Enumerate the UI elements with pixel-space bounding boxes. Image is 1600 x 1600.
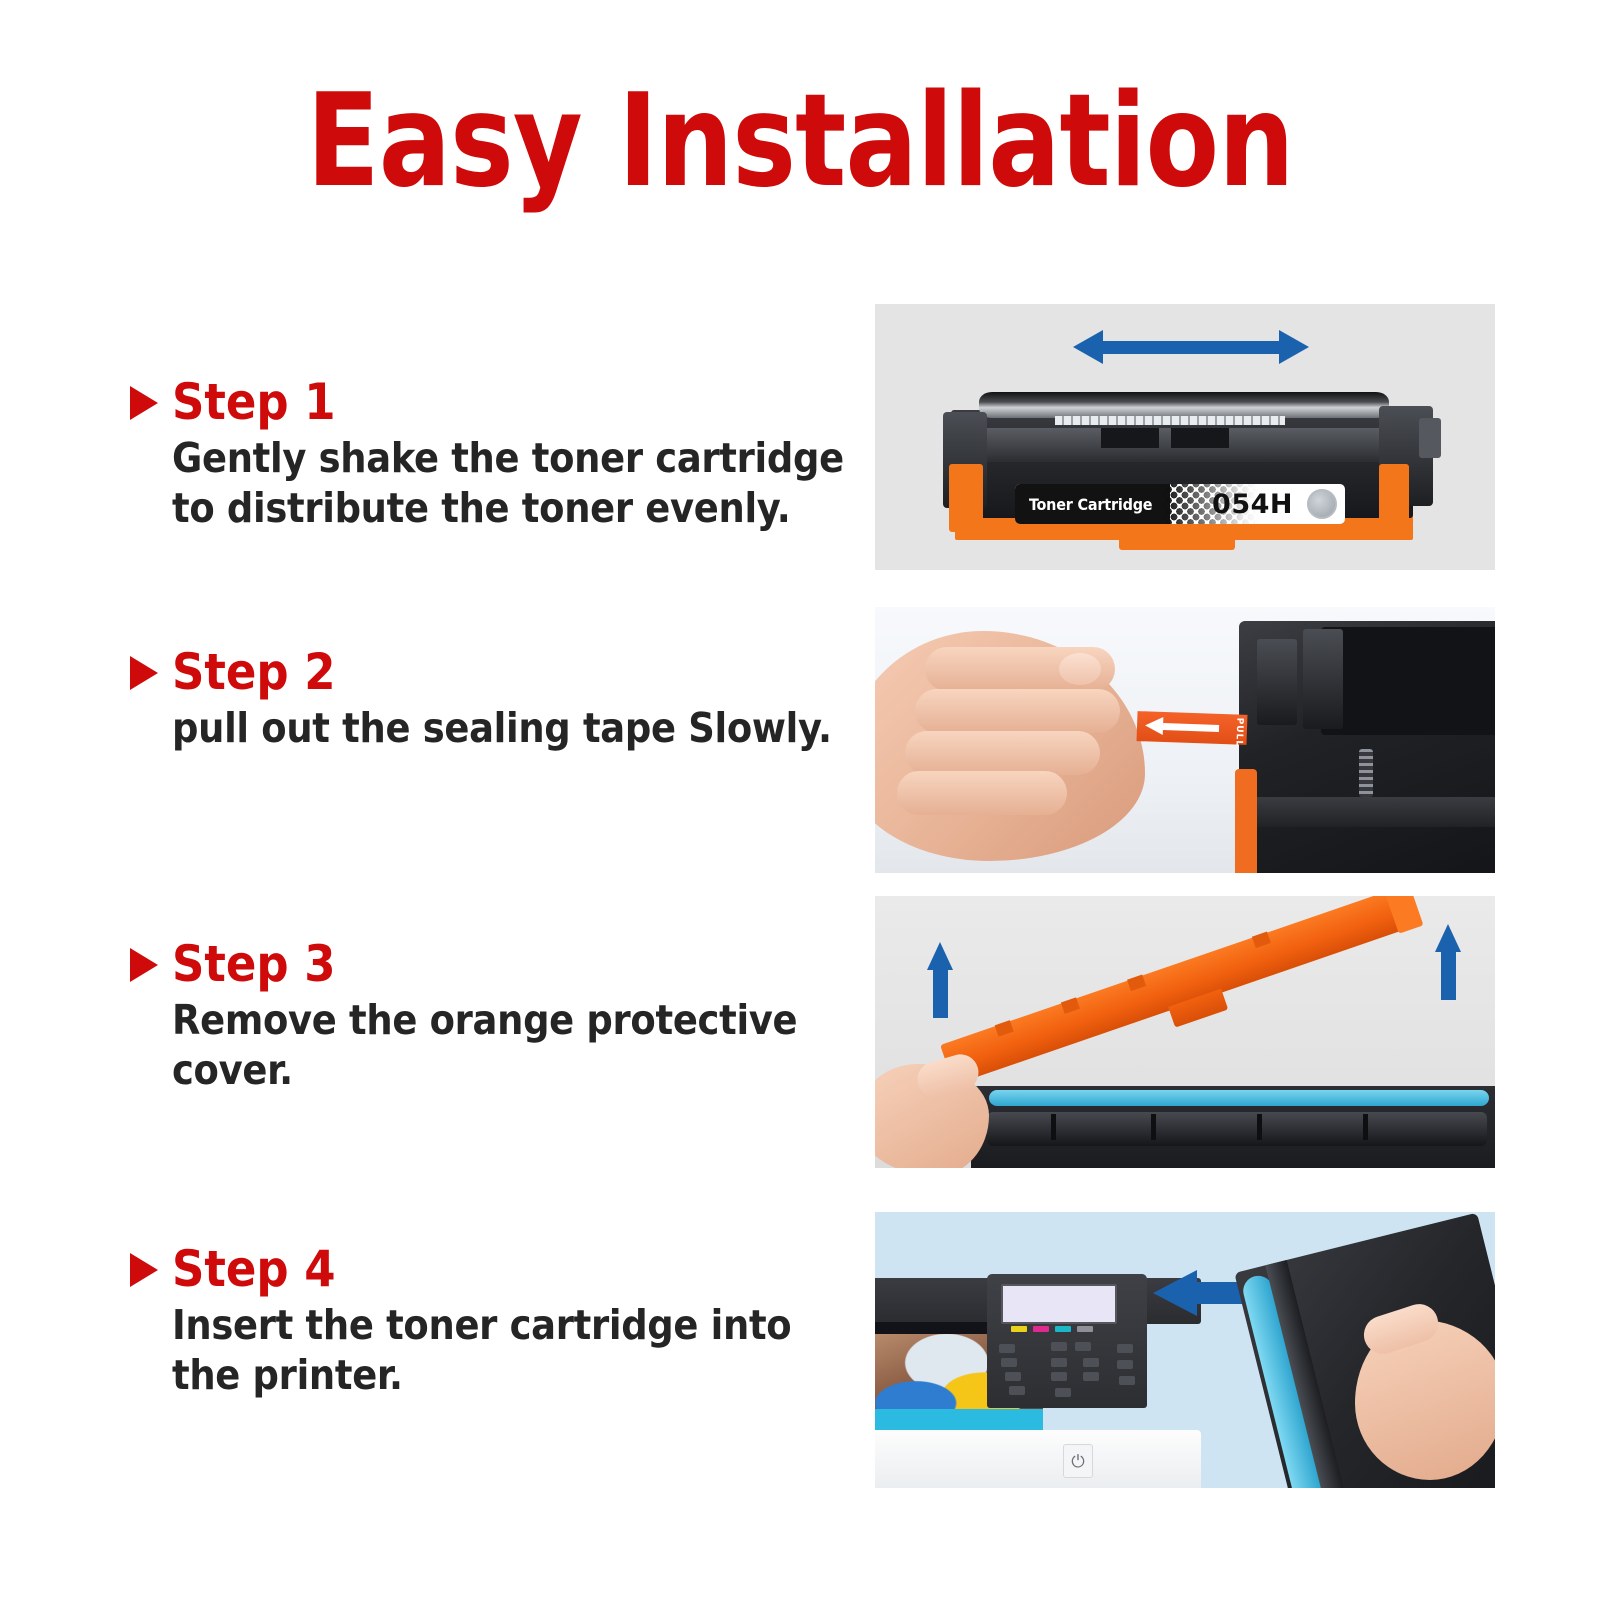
double-horizontal-arrow-icon [1073, 330, 1309, 364]
step-item-3: Step 3 Remove the orange protective cove… [130, 938, 850, 1095]
arrow-left-icon [1145, 716, 1164, 735]
toner-level-indicators [1011, 1326, 1093, 1332]
cartridge-label: Toner Cartridge 054H [1015, 484, 1345, 524]
keypad-button[interactable] [1055, 1388, 1071, 1397]
drum-assembly [971, 1086, 1495, 1168]
hand-graphic [875, 631, 1145, 861]
keypad-button[interactable] [1117, 1344, 1133, 1353]
finger [915, 689, 1120, 733]
cartridge-dark-top [1321, 627, 1495, 735]
printer-control-panel[interactable] [987, 1274, 1147, 1408]
toner-indicator-cyan [1055, 1326, 1071, 1332]
steps-column: Step 1 Gently shake the toner cartridge … [0, 288, 860, 1518]
toner-indicator-magenta [1033, 1326, 1049, 1332]
cyan-drum [989, 1090, 1489, 1106]
step-4-image: ⏻ [875, 1212, 1495, 1488]
printer-keypad[interactable] [999, 1342, 1135, 1400]
triangle-right-icon [130, 656, 158, 690]
toner-indicator-black [1077, 1326, 1093, 1332]
arrow-right-head [1279, 330, 1309, 364]
step-1-header: Step 1 [130, 376, 850, 429]
keypad-button[interactable] [1119, 1376, 1135, 1385]
sealing-tape: PULL [1137, 711, 1248, 745]
step-2-label: Step 2 [172, 646, 336, 699]
cartridge-top-strip [1055, 416, 1285, 425]
step-4-label: Step 4 [172, 1243, 336, 1296]
keypad-button[interactable] [999, 1344, 1015, 1353]
keypad-button[interactable] [1005, 1372, 1021, 1381]
step-2-description: pull out the sealing tape Slowly. [172, 703, 850, 753]
step-4-header: Step 4 [130, 1243, 850, 1296]
cartridge-right-gear [1419, 418, 1441, 458]
cartridge-rib [1257, 639, 1297, 725]
keypad-button[interactable] [1083, 1358, 1099, 1367]
step-item-4: Step 4 Insert the toner cartridge into t… [130, 1243, 850, 1400]
printer-lcd-display [1001, 1284, 1117, 1324]
drum-roller [987, 1112, 1487, 1146]
arrow-left-head [1073, 330, 1103, 364]
cartridge-top-roller [979, 392, 1389, 418]
page-title: Easy Installation [56, 78, 1544, 206]
drum-tick [1363, 1114, 1368, 1140]
cartridge-orange-left-clip [949, 464, 983, 532]
triangle-right-icon [130, 1253, 158, 1287]
cartridge-spring [1359, 749, 1373, 797]
keypad-button[interactable] [1117, 1360, 1133, 1369]
toner-cartridge-graphic: Toner Cartridge 054H [951, 392, 1419, 540]
finger [897, 771, 1067, 815]
arrow-shaft [933, 966, 948, 1018]
cartridge-side-view [1239, 621, 1495, 873]
keypad-button[interactable] [1001, 1358, 1017, 1367]
arrow-shaft [1163, 723, 1219, 732]
step-3-image [875, 896, 1495, 1168]
step-item-1: Step 1 Gently shake the toner cartridge … [130, 376, 850, 533]
arrow-up-icon [1435, 924, 1461, 1000]
power-icon[interactable]: ⏻ [1063, 1444, 1093, 1478]
cartridge-rib [1303, 629, 1343, 729]
drum-tick [1051, 1114, 1056, 1140]
arrow-shaft [1101, 341, 1281, 354]
step-3-label: Step 3 [172, 938, 336, 991]
cartridge-orange-right-clip [1379, 464, 1409, 532]
keypad-button[interactable] [1051, 1372, 1067, 1381]
cartridge-label-text: Toner Cartridge [1029, 484, 1152, 524]
keypad-button[interactable] [1051, 1358, 1067, 1367]
triangle-right-icon [130, 948, 158, 982]
cartridge-orange-clip [1235, 769, 1257, 873]
keypad-button[interactable] [1051, 1342, 1067, 1351]
step-1-label: Step 1 [172, 376, 336, 429]
arrow-up-icon [927, 942, 953, 1018]
step-2-header: Step 2 [130, 646, 850, 699]
keypad-button[interactable] [1009, 1386, 1025, 1395]
cartridge-notch [1171, 428, 1229, 448]
step-3-description: Remove the orange protective cover. [172, 995, 850, 1095]
step-3-header: Step 3 [130, 938, 850, 991]
triangle-right-icon [130, 386, 158, 420]
step-4-description: Insert the toner cartridge into the prin… [172, 1300, 850, 1400]
keypad-button[interactable] [1075, 1342, 1091, 1351]
cartridge-model-text: 054H [1212, 484, 1293, 524]
hand-graphic [875, 1064, 989, 1168]
printer-body [875, 1430, 1201, 1488]
step-1-description: Gently shake the toner cartridge to dist… [172, 433, 850, 533]
cartridge-notch [1101, 428, 1159, 448]
drum-tick [1257, 1114, 1262, 1140]
cartridge-shelf [1247, 797, 1495, 827]
keypad-button[interactable] [1083, 1372, 1099, 1381]
fingernail [1059, 653, 1101, 685]
finger [905, 731, 1100, 775]
cartridge-chip-icon [1307, 489, 1337, 519]
drum-tick [1151, 1114, 1156, 1140]
step-item-2: Step 2 pull out the sealing tape Slowly. [130, 646, 850, 753]
arrow-shaft [1441, 948, 1456, 1000]
toner-indicator-yellow [1011, 1326, 1027, 1332]
tape-pull-text: PULL [1233, 717, 1243, 747]
step-2-image: PULL [875, 607, 1495, 873]
step-1-image: Toner Cartridge 054H [875, 304, 1495, 570]
cartridge-orange-tab [1119, 534, 1235, 550]
